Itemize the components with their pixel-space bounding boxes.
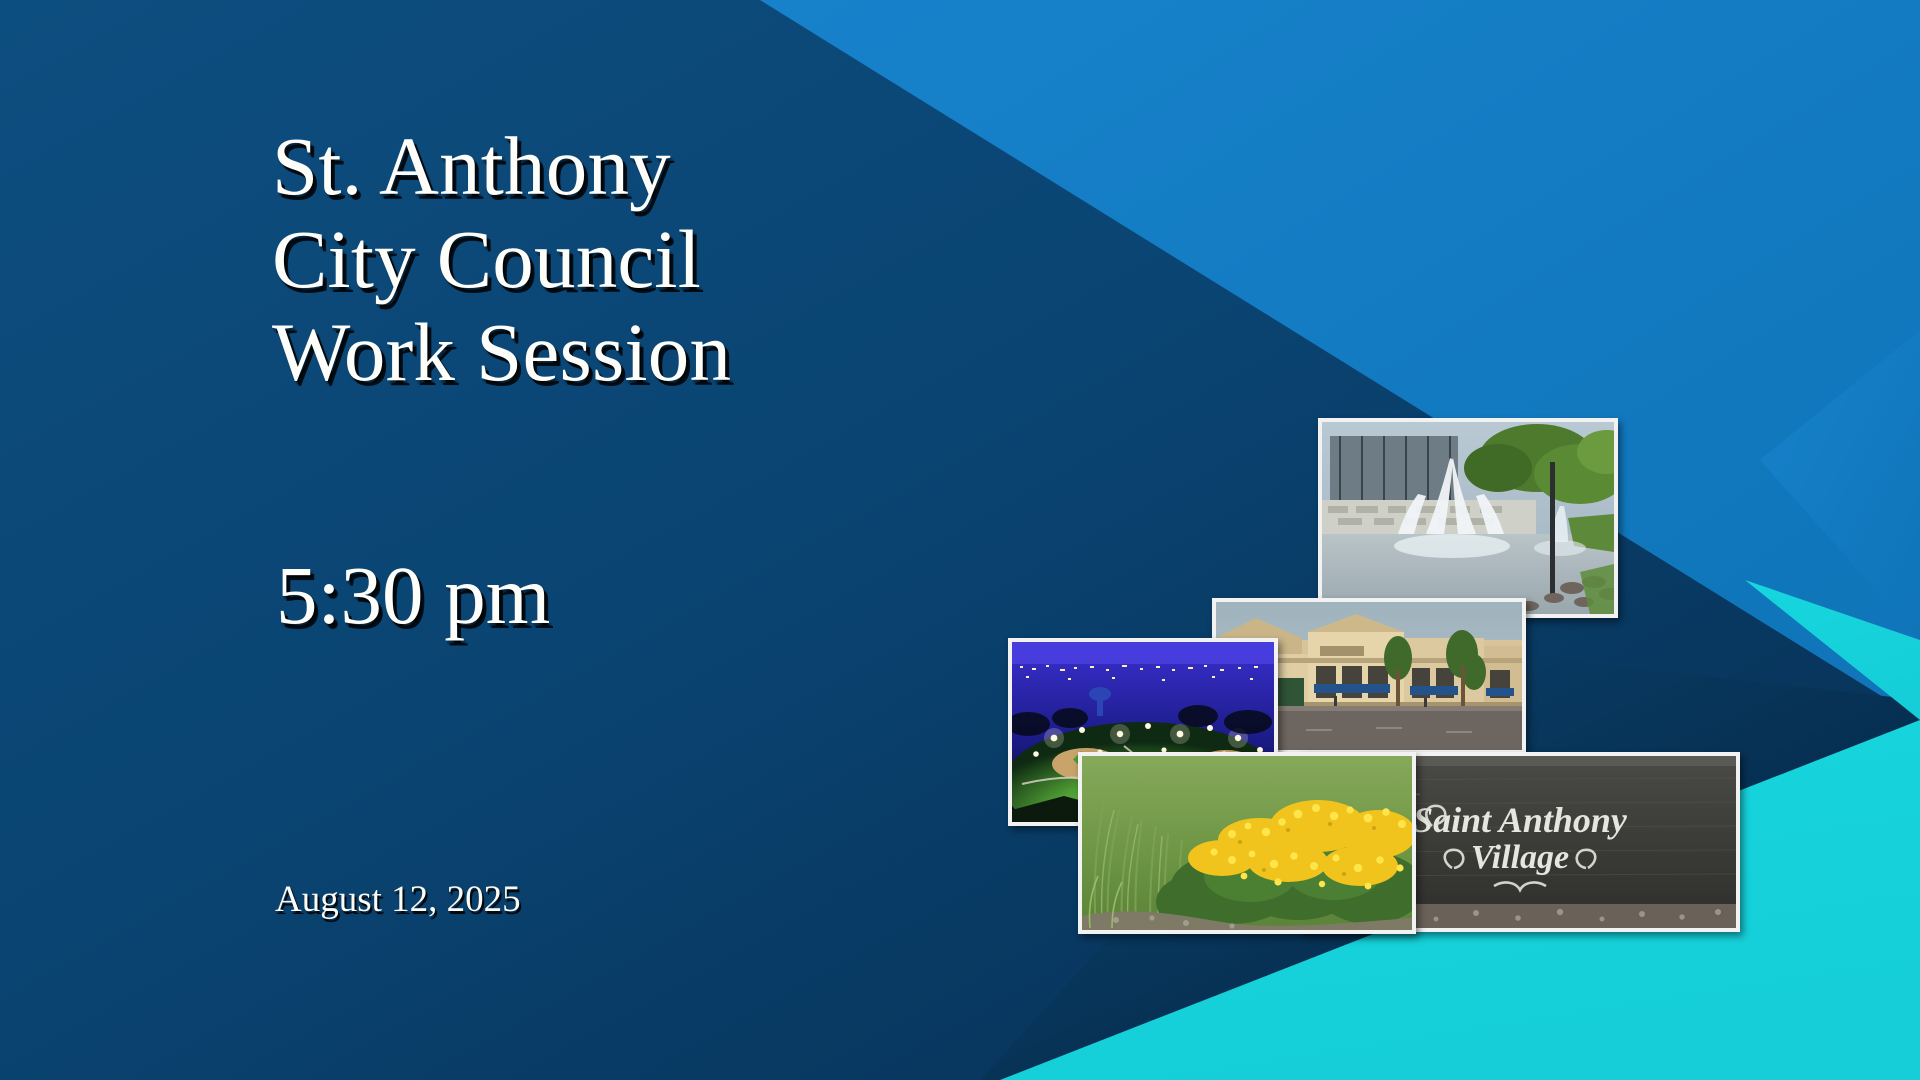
title-slide: St. Anthony City Council Work Session 5:… <box>0 0 1920 1080</box>
photo-flower-garden <box>1078 752 1416 934</box>
sign-text-line1: Saint Anthony <box>1413 800 1628 840</box>
photo-fountain <box>1318 418 1618 618</box>
photo-collage: Saint Anthony Village <box>0 0 1920 1080</box>
sign-text-line2: Village <box>1471 839 1569 876</box>
